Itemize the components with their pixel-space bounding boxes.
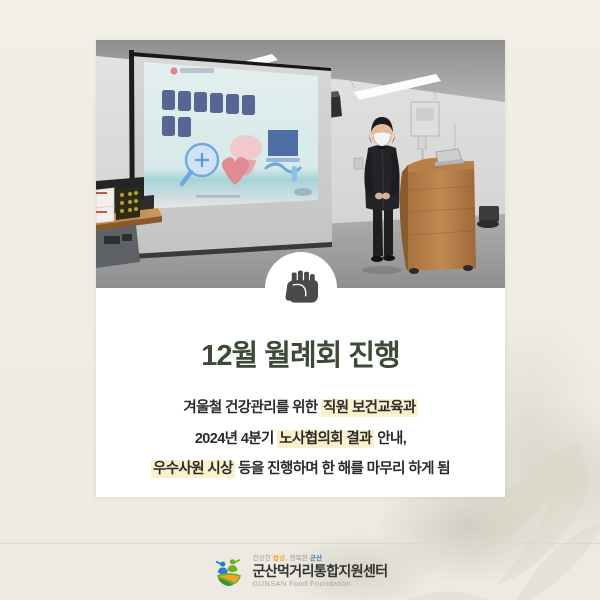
tagline-part: 밥상 <box>273 555 285 562</box>
plain-text: 겨울철 건강관리를 위한 <box>183 400 321 416</box>
body-line: 겨울철 건강관리를 위한 직원 보건교육과 <box>114 401 487 416</box>
footer: 건강한 밥상, 행복한 군산 군산먹거리통합지원센터 GUNSAN Food F… <box>0 543 600 600</box>
raised-fist-badge <box>265 252 337 324</box>
raised-fist-icon <box>284 269 318 307</box>
organization-name-en: GUNSAN Food Foundation <box>252 580 387 588</box>
gunsan-food-foundation-logo-icon <box>212 555 246 589</box>
highlighted-text: 노사협의회 결과 <box>277 430 374 448</box>
plain-text: 2024년 4분기 <box>195 431 277 447</box>
plain-text: 안내, <box>374 431 406 447</box>
highlighted-text: 직원 보건교육과 <box>321 399 418 417</box>
page-title: 12월 월례회 진행 <box>114 340 487 373</box>
content-card: 12월 월례회 진행 겨울철 건강관리를 위한 직원 보건교육과2024년 4분… <box>96 40 505 497</box>
event-photo <box>96 40 505 288</box>
plain-text: 등을 진행하며 한 해를 마무리 하게 됨 <box>235 461 450 477</box>
tagline-part: 군산 <box>310 555 322 562</box>
organization-name-ko: 군산먹거리통합지원센터 <box>252 564 387 578</box>
page-background: 12월 월례회 진행 겨울철 건강관리를 위한 직원 보건교육과2024년 4분… <box>0 0 600 600</box>
tagline-part: 건강한 <box>252 555 273 562</box>
body-line: 2024년 4분기 노사협의회 결과 안내, <box>114 432 487 447</box>
body-line: 우수사원 시상 등을 진행하며 한 해를 마무리 하게 됨 <box>114 462 487 477</box>
body-text: 겨울철 건강관리를 위한 직원 보건교육과2024년 4분기 노사협의회 결과 … <box>114 401 487 477</box>
logo-text-group: 건강한 밥상, 행복한 군산 군산먹거리통합지원센터 GUNSAN Food F… <box>252 556 387 588</box>
tagline-part: , 행복한 <box>285 555 310 562</box>
organization-logo: 건강한 밥상, 행복한 군산 군산먹거리통합지원센터 GUNSAN Food F… <box>212 555 387 589</box>
logo-tagline: 건강한 밥상, 행복한 군산 <box>252 556 387 563</box>
highlighted-text: 우수사원 시상 <box>151 460 235 478</box>
event-photo-illustration <box>96 40 505 288</box>
